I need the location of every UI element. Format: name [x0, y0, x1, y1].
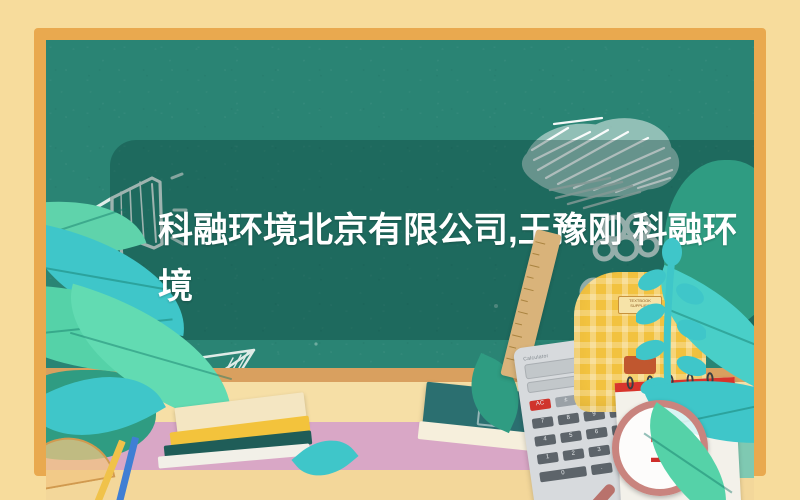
banner-canvas: 科融环境北京有限公司,王豫刚 科融环境	[0, 0, 800, 500]
calculator-key[interactable]: 2	[562, 448, 584, 461]
calculator-key[interactable]: 5	[560, 430, 582, 443]
calculator-key[interactable]: 6	[586, 427, 608, 440]
calculator-key[interactable]: 3	[588, 445, 610, 458]
notebook-ring	[626, 376, 634, 389]
calculator-key[interactable]: 8	[557, 413, 579, 426]
calculator-key[interactable]: 0	[539, 466, 587, 482]
calculator-key[interactable]: 4	[534, 434, 556, 447]
calculator-key[interactable]: AC	[529, 398, 551, 411]
calculator-key[interactable]: .	[591, 462, 613, 475]
calculator-key[interactable]: 1	[537, 452, 559, 465]
calculator-key[interactable]: 7	[532, 416, 554, 429]
chalkboard-surface: 科融环境北京有限公司,王豫刚 科融环境	[46, 40, 754, 500]
